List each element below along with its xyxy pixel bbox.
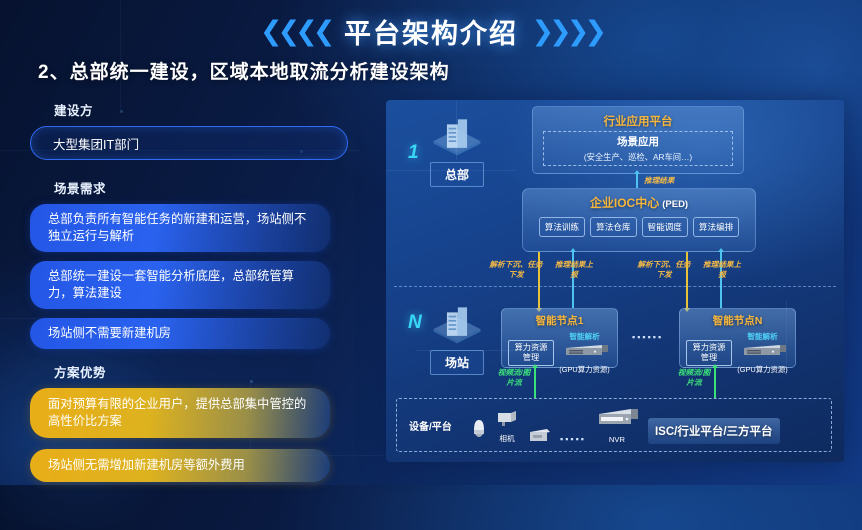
section-label: 建设方 [54,100,370,119]
advantage-item: 面对预算有限的企业用户，提供总部集中管控的高性价比方案 [30,388,330,438]
ioc-chip-orchestration: 算法编排 [693,217,739,237]
section-builder: 建设方 大型集团IT部门 [30,100,370,160]
requirement-item: 场站侧不需要新建机房 [30,318,330,349]
builder-pill: 大型集团IT部门 [30,126,348,160]
tier-divider [394,286,836,287]
app-platform-box: 行业应用平台 场景应用 (安全生产、巡检、AR车间…) [532,106,744,174]
node1-resource-label: 算力资源管理 [508,340,554,367]
node-separator-dots: ▪▪▪▪▪▪ [632,332,663,342]
node1-gpu-block: 智能解析 (GPU算力资源) [558,331,611,375]
nvr-label: NVR [595,435,639,444]
box-camera-icon [527,428,551,444]
app-platform-title: 行业应用平台 [533,113,743,129]
intelligent-node-1: 智能节点1 算力资源管理 智能解析 (GPU算力资源) [501,308,618,368]
page-subtitle: 2、总部统一建设，区域本地取流分析建设架构 [38,57,450,84]
tier-label-hq: 总部 [430,162,484,187]
building-icon-station [430,304,484,356]
chevron-right-icon: ❯❯❯❯ [531,18,602,45]
nodeN-resource-label: 算力资源管理 [686,340,732,367]
label-up-nodeN: 推理结果上报 [700,260,744,280]
page-title: ❮❮❮❮ 平台架构介绍 ❯❯❯❯ [0,12,862,52]
intelligent-node-n: 智能节点N 算力资源管理 智能解析 (GPU算力资源) [679,308,796,368]
server-icon [740,343,786,358]
label-inference-result: 推理结果 [644,176,704,186]
advantage-item: 场站侧无需增加新建机房等额外费用 [30,449,330,482]
nodeN-title: 智能节点N [680,313,795,328]
bullet-camera-icon [496,409,518,427]
camera-label: 相机 [496,433,518,444]
label-down-nodeN: 解析下沉、任务下发 [634,260,694,280]
nvr-icon [595,407,639,429]
section-label: 场景需求 [54,178,370,197]
ioc-chip-training: 算法训练 [539,217,585,237]
ioc-chip-scheduling: 智能调度 [642,217,688,237]
device-separator-dots: ▪▪▪▪▪ [560,434,586,444]
device-icon-list: 相机 ▪▪▪▪▪ NVR ISC/行业平台/三方平台 [471,407,831,444]
section-label: 方案优势 [54,362,370,381]
nodeN-gpu-label: (GPU算力资源) [736,364,789,375]
tier-index-n: N [408,312,422,334]
label-down-node1: 解析下沉、任务下发 [486,260,546,280]
architecture-diagram: 1 总部 行业应用平台 场景应用 (安全生产、巡检、AR车间…) 推理结果 企业… [386,100,844,462]
server-icon [562,343,608,358]
device-row-label: 设备/平台 [409,418,471,433]
node1-gpu-label: (GPU算力资源) [558,364,611,375]
section-advantages: 方案优势 面对预算有限的企业用户，提供总部集中管控的高性价比方案 场站侧无需增加… [30,362,370,483]
ioc-chip-repository: 算法仓库 [590,217,636,237]
ioc-title: 企业IOC中心(PED) [523,194,755,211]
nodeN-analysis-label: 智能解析 [736,331,789,342]
ioc-title-text: 企业IOC中心 [590,196,659,210]
building-icon-hq [430,116,484,168]
nodeN-gpu-block: 智能解析 (GPU算力资源) [736,331,789,375]
node1-analysis-label: 智能解析 [558,331,611,342]
ioc-center-box: 企业IOC中心(PED) 算法训练 算法仓库 智能调度 算法编排 [522,188,756,252]
tier-label-station: 场站 [430,350,484,375]
ioc-suffix: (PED) [662,199,688,210]
requirement-item: 总部负责所有智能任务的新建和运营，场站侧不独立运行与解析 [30,204,330,252]
label-stream-nodeN: 视频流/图片流 [674,368,714,388]
title-text: 平台架构介绍 [344,12,518,51]
device-platform-row: 设备/平台 相机 ▪▪▪▪▪ [396,398,832,452]
section-requirements: 场景需求 总部负责所有智能任务的新建和运营，场站侧不独立运行与解析 总部统一建设… [30,178,370,349]
chevron-left-icon: ❮❮❮❮ [260,18,331,45]
tier-index-1: 1 [408,142,419,164]
nvr-group: NVR [595,407,639,444]
dome-camera-icon [471,418,487,444]
scene-app-sub: (安全生产、巡检、AR车间…) [584,151,692,163]
left-panel: 建设方 大型集团IT部门 场景需求 总部负责所有智能任务的新建和运营，场站侧不独… [30,100,370,493]
scene-app-title: 场景应用 [617,134,659,149]
node1-title: 智能节点1 [502,313,617,328]
label-stream-node1: 视频流/图片流 [494,368,534,388]
platform-badge: ISC/行业平台/三方平台 [648,418,780,444]
requirement-item: 总部统一建设一套智能分析底座，总部统管算力，算法建设 [30,261,330,309]
ioc-capability-list: 算法训练 算法仓库 智能调度 算法编排 [523,217,755,237]
scene-app-box: 场景应用 (安全生产、巡检、AR车间…) [543,131,733,166]
camera-group: 相机 [496,409,518,444]
label-up-node1: 推理结果上报 [552,260,596,280]
